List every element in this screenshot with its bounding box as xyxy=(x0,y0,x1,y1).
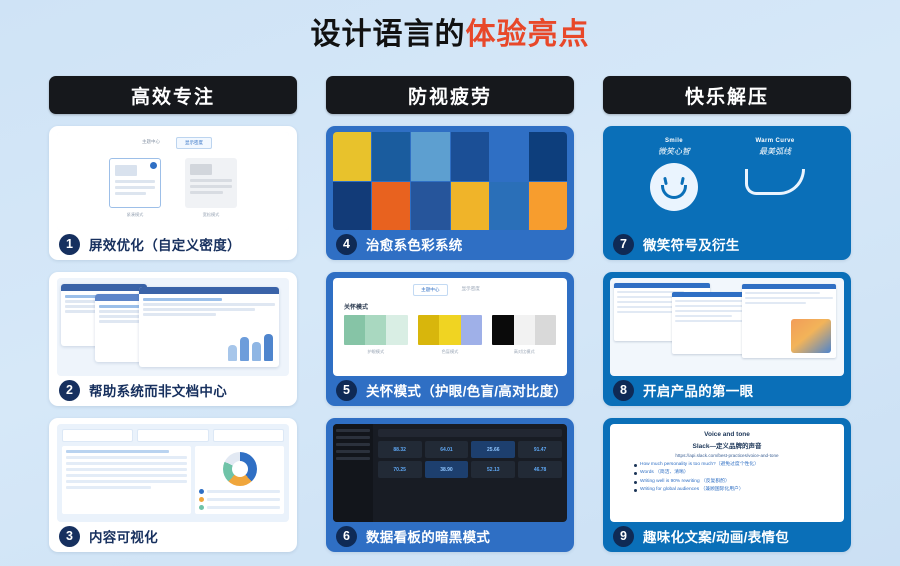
card-3-label: 内容可视化 xyxy=(89,526,158,546)
moodboard-tile xyxy=(529,182,567,231)
voice-title-en: Voice and tone xyxy=(618,431,836,438)
moodboard-tile xyxy=(372,132,410,181)
card-5-label: 关怀模式（护眼/色盲/高对比度） xyxy=(366,380,564,400)
curve-en-label: Warm Curve xyxy=(728,138,822,144)
card-1-label: 屏效优化（自定义密度） xyxy=(89,234,241,254)
metric-cell: 52.13 xyxy=(471,461,515,478)
card-9[interactable]: Voice and tone Slack—定义品牌的声音 https://api… xyxy=(603,418,851,552)
card-7-thumbnail: Smile 微笑心智 Warm Curve 最美弧线 xyxy=(610,132,844,230)
card-8-number: 8 xyxy=(613,380,634,401)
voice-bullet-item: Writing well is 90% rewriting （反复斟酌） xyxy=(634,479,836,485)
card-2-label: 帮助系统而非文档中心 xyxy=(89,380,227,400)
color-moodboard-mock xyxy=(333,132,567,230)
moodboard-tile xyxy=(490,182,528,231)
voice-and-tone-mock: Voice and tone Slack—定义品牌的声音 https://api… xyxy=(610,424,844,522)
card-8-caption: 8 开启产品的第一眼 xyxy=(603,376,851,406)
card-4-label: 治愈系色彩系统 xyxy=(366,234,463,254)
moodboard-tile xyxy=(411,132,449,181)
card-7-number: 7 xyxy=(613,234,634,255)
page-title-plain: 设计语言的 xyxy=(311,18,466,51)
card-7[interactable]: Smile 微笑心智 Warm Curve 最美弧线 7 微笑符号及衍生 xyxy=(603,126,851,260)
care-set-colorblind[interactable]: 色盲模式 xyxy=(418,315,482,355)
card-7-caption: 7 微笑符号及衍生 xyxy=(603,230,851,260)
card-7-label: 微笑符号及衍生 xyxy=(643,234,740,254)
page-title-accent: 体验亮点 xyxy=(466,18,590,51)
card-3-thumbnail xyxy=(57,424,289,522)
column-header-eyestrain: 防视疲劳 xyxy=(326,76,574,114)
bullet-icon xyxy=(634,489,637,492)
moodboard-tile xyxy=(490,132,528,181)
smiley-face-icon xyxy=(650,163,698,211)
donut-chart xyxy=(223,452,257,486)
care-set-eyecare-label: 护眼模式 xyxy=(344,349,408,355)
density-options: 紧凑模式 宽松模式 xyxy=(57,158,289,218)
card-2-caption: 2 帮助系统而非文档中心 xyxy=(49,376,297,406)
card-9-number: 9 xyxy=(613,526,634,547)
data-dashboard-mock xyxy=(57,424,289,522)
people-illustration xyxy=(228,334,273,361)
card-3-number: 3 xyxy=(59,526,80,547)
moodboard-tile xyxy=(451,132,489,181)
card-1-thumbnail: 主题中心 显示密度 紧凑模式 xyxy=(57,132,289,230)
card-6-label: 数据看板的暗黑模式 xyxy=(366,526,490,546)
care-tabs: 主题中心 显示密度 xyxy=(342,284,558,296)
smile-mock: Smile 微笑心智 Warm Curve 最美弧线 xyxy=(610,132,844,230)
onboarding-mock xyxy=(610,278,844,376)
density-tab-density[interactable]: 显示密度 xyxy=(176,137,212,149)
column-relax: 快乐解压 Smile 微笑心智 Warm Curve 最美弧线 xyxy=(603,76,851,552)
dark-header xyxy=(378,429,562,437)
card-9-caption: 9 趣味化文案/动画/表情包 xyxy=(603,522,851,552)
card-5-number: 5 xyxy=(336,380,357,401)
density-option-compact[interactable]: 紧凑模式 xyxy=(109,158,161,218)
columns-grid: 高效专注 主题中心 显示密度 xyxy=(0,76,900,552)
density-tabs: 主题中心 显示密度 xyxy=(57,132,289,149)
card-9-label: 趣味化文案/动画/表情包 xyxy=(643,526,789,546)
smile-en-label: Smile xyxy=(632,138,716,144)
voice-title-cn: Slack—定义品牌的声音 xyxy=(618,440,836,450)
care-set-contrast[interactable]: 高对比模式 xyxy=(492,315,556,355)
density-option-loose[interactable]: 宽松模式 xyxy=(185,158,237,218)
moodboard-tile xyxy=(451,182,489,231)
column-eyestrain: 防视疲劳 4 xyxy=(326,76,574,552)
moodboard-tile xyxy=(333,182,371,231)
voice-bullet-text: Writing for global audiences （兼顾国际化用户） xyxy=(640,487,744,493)
column-focus: 高效专注 主题中心 显示密度 xyxy=(49,76,297,552)
card-3-caption: 3 内容可视化 xyxy=(49,522,297,552)
density-option-loose-label: 宽松模式 xyxy=(185,212,237,218)
care-set-contrast-label: 高对比模式 xyxy=(492,349,556,355)
moodboard-tile xyxy=(333,132,371,181)
voice-bullet-text: How much personality is too much?（避免过度个性… xyxy=(640,462,759,468)
help-windows-mock xyxy=(57,278,289,376)
card-2-number: 2 xyxy=(59,380,80,401)
voice-bullet-text: Writing well is 90% rewriting （反复斟酌） xyxy=(640,479,730,485)
dashboard-chart xyxy=(195,446,284,514)
card-3[interactable]: 3 内容可视化 xyxy=(49,418,297,552)
metric-cell: 46.78 xyxy=(518,461,562,478)
moodboard-tile xyxy=(411,182,449,231)
warm-curve-group: Warm Curve 最美弧线 xyxy=(728,138,822,195)
page-title: 设计语言的体验亮点 xyxy=(0,0,900,53)
card-8-thumbnail xyxy=(610,278,844,376)
metric-cell: 64.01 xyxy=(425,441,469,458)
metric-cell: 91.47 xyxy=(518,441,562,458)
chart-legend xyxy=(199,489,280,510)
placeholder-image xyxy=(115,165,137,176)
bullet-icon xyxy=(634,472,637,475)
bullet-icon xyxy=(634,481,637,484)
card-6-number: 6 xyxy=(336,526,357,547)
care-tab-theme[interactable]: 主题中心 xyxy=(413,284,447,296)
window-front xyxy=(139,287,279,367)
onboarding-window-3 xyxy=(742,284,836,358)
card-1-caption: 1 屏效优化（自定义密度） xyxy=(49,230,297,260)
dark-sidebar xyxy=(333,424,373,522)
density-option-compact-label: 紧凑模式 xyxy=(109,212,161,218)
placeholder-image xyxy=(190,164,212,175)
metric-cell: 25.66 xyxy=(471,441,515,458)
care-modes-title: 关怀模式 xyxy=(344,302,558,311)
card-5[interactable]: 主题中心 显示密度 关怀模式 护眼模式 xyxy=(326,272,574,406)
column-header-focus: 高效专注 xyxy=(49,76,297,114)
card-6-thumbnail: 88.32 64.01 25.66 91.47 70.25 38.90 52.1… xyxy=(333,424,567,522)
dashboard-chips xyxy=(62,429,284,442)
voice-bullet-item: Writing for global audiences （兼顾国际化用户） xyxy=(634,487,836,493)
card-2-thumbnail xyxy=(57,278,289,376)
voice-url[interactable]: https://api.slack.com/best-practices/voi… xyxy=(618,453,836,458)
density-tab-theme[interactable]: 主题中心 xyxy=(134,137,168,149)
card-8-label: 开启产品的第一眼 xyxy=(643,380,753,400)
voice-bullet-item: How much personality is too much?（避免过度个性… xyxy=(634,462,836,468)
voice-bullet-item: Words （简洁、清晰） xyxy=(634,470,836,476)
card-4-caption: 4 治愈系色彩系统 xyxy=(326,230,574,260)
check-icon xyxy=(150,162,157,169)
card-6[interactable]: 88.32 64.01 25.66 91.47 70.25 38.90 52.1… xyxy=(326,418,574,552)
smile-group: Smile 微笑心智 xyxy=(632,138,716,211)
density-picker-mock: 主题中心 显示密度 紧凑模式 xyxy=(57,132,289,230)
warm-curve-icon xyxy=(745,169,805,195)
column-header-relax: 快乐解压 xyxy=(603,76,851,114)
care-set-colorblind-label: 色盲模式 xyxy=(418,349,482,355)
metric-cell: 38.90 xyxy=(425,461,469,478)
bullet-icon xyxy=(634,464,637,467)
card-4-thumbnail xyxy=(333,132,567,230)
card-4[interactable]: 4 治愈系色彩系统 xyxy=(326,126,574,260)
metric-cell: 70.25 xyxy=(378,461,422,478)
moodboard-tile xyxy=(372,182,410,231)
card-1[interactable]: 主题中心 显示密度 紧凑模式 xyxy=(49,126,297,260)
card-4-number: 4 xyxy=(336,234,357,255)
dashboard-table xyxy=(62,446,191,514)
metric-cell: 88.32 xyxy=(378,441,422,458)
curve-cn-label: 最美弧线 xyxy=(728,146,822,157)
dark-metrics-grid: 88.32 64.01 25.66 91.47 70.25 38.90 52.1… xyxy=(378,441,562,478)
dark-dashboard-mock: 88.32 64.01 25.66 91.47 70.25 38.90 52.1… xyxy=(333,424,567,522)
care-tab-density[interactable]: 显示密度 xyxy=(455,284,487,296)
smile-cn-label: 微笑心智 xyxy=(632,146,716,157)
care-swatch-sets: 护眼模式 色盲模式 xyxy=(342,315,558,355)
card-8[interactable]: 8 开启产品的第一眼 xyxy=(603,272,851,406)
card-2[interactable]: 2 帮助系统而非文档中心 xyxy=(49,272,297,406)
card-6-caption: 6 数据看板的暗黑模式 xyxy=(326,522,574,552)
card-1-number: 1 xyxy=(59,234,80,255)
card-9-thumbnail: Voice and tone Slack—定义品牌的声音 https://api… xyxy=(610,424,844,522)
card-5-caption: 5 关怀模式（护眼/色盲/高对比度） xyxy=(326,376,574,406)
care-modes-mock: 主题中心 显示密度 关怀模式 护眼模式 xyxy=(333,278,567,376)
voice-bullet-text: Words （简洁、清晰） xyxy=(640,470,689,476)
care-set-eyecare[interactable]: 护眼模式 xyxy=(344,315,408,355)
card-5-thumbnail: 主题中心 显示密度 关怀模式 护眼模式 xyxy=(333,278,567,376)
onboarding-illustration xyxy=(791,319,831,353)
moodboard-tile xyxy=(529,132,567,181)
